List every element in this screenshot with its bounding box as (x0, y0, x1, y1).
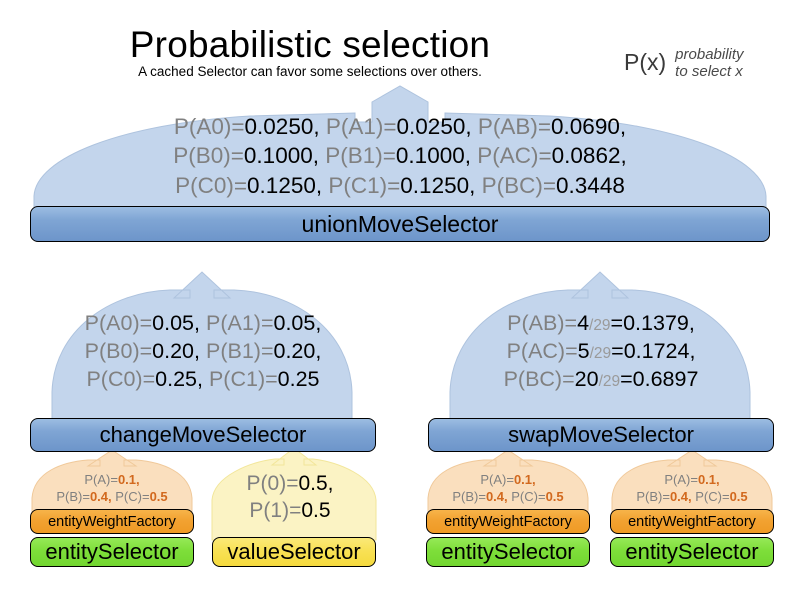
change-entity-callout-shape (32, 450, 192, 514)
union-callout-shape (34, 86, 766, 218)
change-entity-weight-factory-box[interactable]: entityWeightFactory (30, 509, 194, 534)
swap-entity-left-callout-shape (428, 450, 588, 514)
swap-entity-left-selector-label: entitySelector (441, 539, 574, 565)
swap-move-selector-label: swapMoveSelector (508, 422, 694, 448)
union-move-selector-box[interactable]: unionMoveSelector (30, 206, 770, 242)
diagram-canvas: Probabilistic selection A cached Selecto… (0, 0, 800, 600)
change-move-selector-box[interactable]: changeMoveSelector (30, 418, 376, 452)
change-value-callout-shape (212, 448, 376, 540)
change-entity-weight-factory-label: entityWeightFactory (48, 514, 176, 530)
change-entity-selector-box[interactable]: entitySelector (30, 537, 194, 567)
swap-entity-right-selector-label: entitySelector (625, 539, 758, 565)
value-selector-label: valueSelector (227, 539, 360, 565)
swap-entity-left-selector-box[interactable]: entitySelector (426, 537, 590, 567)
swap-callout-shape (450, 272, 750, 424)
swap-entity-left-weight-factory-label: entityWeightFactory (444, 514, 572, 530)
swap-entity-right-weight-factory-box[interactable]: entityWeightFactory (610, 509, 774, 534)
swap-entity-right-callout-shape (612, 450, 772, 514)
value-selector-box[interactable]: valueSelector (212, 537, 376, 567)
change-callout-shape (52, 272, 352, 424)
swap-move-selector-box[interactable]: swapMoveSelector (428, 418, 774, 452)
swap-entity-right-selector-box[interactable]: entitySelector (610, 537, 774, 567)
change-entity-selector-label: entitySelector (45, 539, 178, 565)
swap-entity-left-weight-factory-box[interactable]: entityWeightFactory (426, 509, 590, 534)
change-move-selector-label: changeMoveSelector (100, 422, 307, 448)
swap-entity-right-weight-factory-label: entityWeightFactory (628, 514, 756, 530)
union-move-selector-label: unionMoveSelector (302, 211, 499, 238)
